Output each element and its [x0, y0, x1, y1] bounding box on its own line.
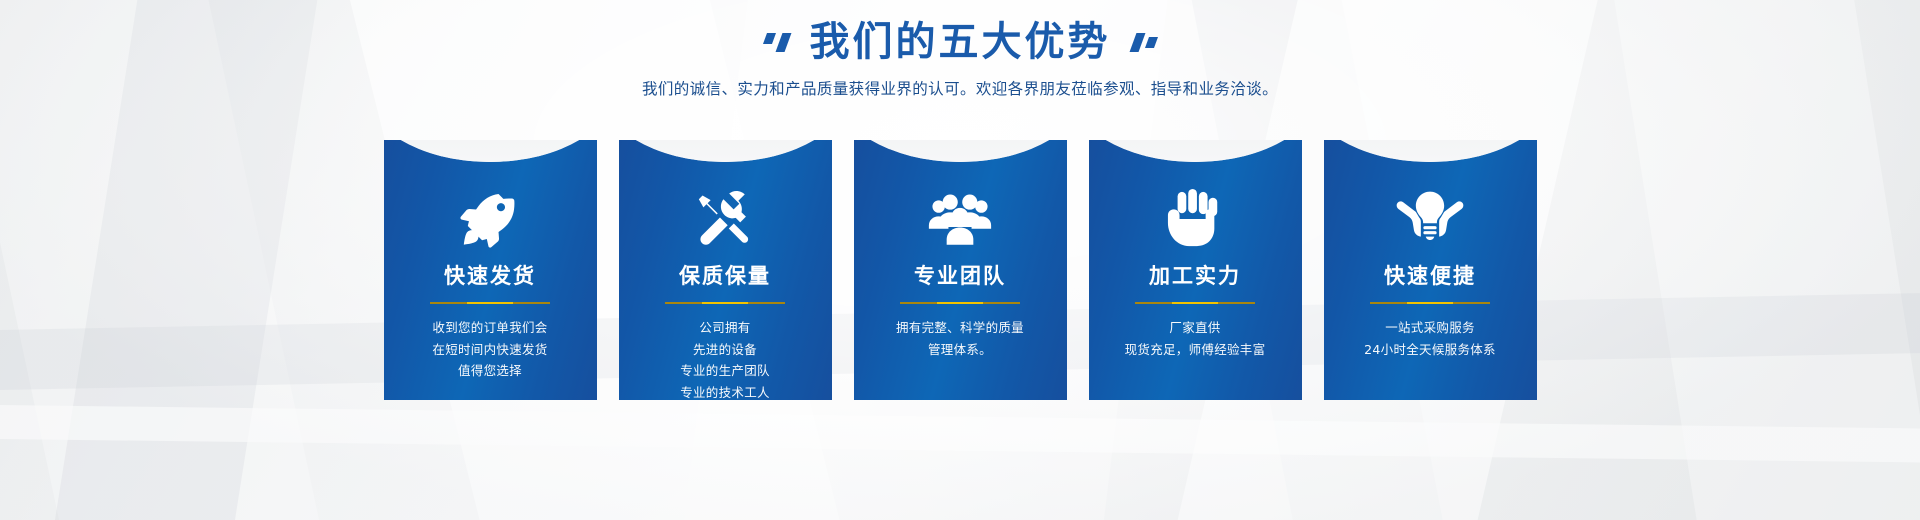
card-desc-line: 现货充足，师傅经验丰富 [1125, 339, 1266, 361]
advantage-card[interactable]: 加工实力 厂家直供 现货充足，师傅经验丰富 [1089, 140, 1302, 400]
advantage-card[interactable]: 快速便捷 一站式采购服务 24小时全天候服务体系 [1324, 140, 1537, 400]
rocket-icon [459, 188, 521, 250]
card-desc-line: 专业的生产团队 [680, 360, 770, 382]
card-top-notch [384, 140, 597, 162]
section-header: 我们的五大优势 我们的诚信、实力和产品质量获得业界的认可。欢迎各界朋友莅临参观、… [0, 0, 1920, 99]
card-desc-line: 一站式采购服务 [1364, 317, 1496, 339]
card-desc-line: 专业的技术工人 [680, 382, 770, 401]
card-top-notch [854, 140, 1067, 162]
wrench-screwdriver-icon [694, 188, 756, 250]
card-divider [900, 302, 1020, 304]
card-desc-line: 24小时全天候服务体系 [1364, 339, 1496, 361]
page-title: 我们的五大优势 [810, 22, 1111, 62]
diamond-slash-decoration-icon [1133, 33, 1156, 52]
card-title: 保质保量 [679, 266, 771, 287]
card-title: 快速发货 [444, 266, 536, 287]
card-description: 公司拥有 先进的设备 专业的生产团队 专业的技术工人 [670, 317, 780, 400]
card-title: 快速便捷 [1384, 266, 1476, 287]
card-desc-line: 在短时间内快速发货 [432, 339, 547, 361]
card-desc-line: 厂家直供 [1125, 317, 1266, 339]
card-top-notch [1324, 140, 1537, 162]
card-description: 厂家直供 现货充足，师傅经验丰富 [1115, 317, 1276, 360]
team-group-icon [928, 188, 992, 250]
card-top-notch [1089, 140, 1302, 162]
section-subtitle: 我们的诚信、实力和产品质量获得业界的认可。欢迎各界朋友莅临参观、指导和业务洽谈。 [0, 77, 1920, 99]
diamond-slash-decoration-icon [765, 33, 788, 52]
card-desc-line: 值得您选择 [432, 360, 547, 382]
title-row: 我们的五大优势 [0, 0, 1920, 62]
card-divider [1370, 302, 1490, 304]
advantage-card[interactable]: 专业团队 拥有完整、科学的质量 管理体系。 [854, 140, 1067, 400]
card-divider [1135, 302, 1255, 304]
card-description: 一站式采购服务 24小时全天候服务体系 [1354, 317, 1506, 360]
card-description: 拥有完整、科学的质量 管理体系。 [886, 317, 1034, 360]
bg-facet [0, 405, 1920, 462]
fist-strength-icon [1166, 188, 1224, 250]
card-title: 加工实力 [1149, 266, 1241, 287]
card-desc-line: 收到您的订单我们会 [432, 317, 547, 339]
card-title: 专业团队 [914, 266, 1006, 287]
advantage-card[interactable]: 快速发货 收到您的订单我们会 在短时间内快速发货 值得您选择 [384, 140, 597, 400]
card-divider [665, 302, 785, 304]
advantage-card-list: 快速发货 收到您的订单我们会 在短时间内快速发货 值得您选择 保质保量 公司拥有… [0, 140, 1920, 400]
card-description: 收到您的订单我们会 在短时间内快速发货 值得您选择 [422, 317, 557, 382]
card-desc-line: 管理体系。 [896, 339, 1024, 361]
hands-lightbulb-icon [1396, 188, 1464, 250]
card-desc-line: 公司拥有 [680, 317, 770, 339]
card-top-notch [619, 140, 832, 162]
card-divider [430, 302, 550, 304]
card-desc-line: 先进的设备 [680, 339, 770, 361]
advantage-card[interactable]: 保质保量 公司拥有 先进的设备 专业的生产团队 专业的技术工人 [619, 140, 832, 400]
card-desc-line: 拥有完整、科学的质量 [896, 317, 1024, 339]
